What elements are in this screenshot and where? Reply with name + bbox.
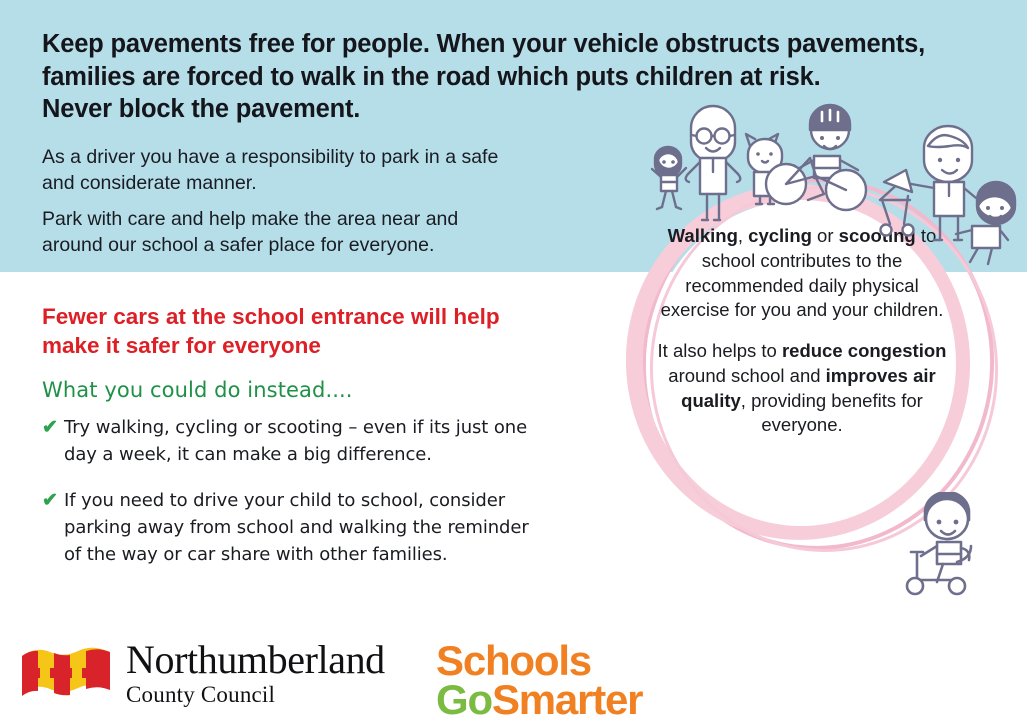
green-subheading: What you could do instead.... xyxy=(42,378,353,402)
northumberland-county-council-logo: Northumberland County Council xyxy=(20,640,385,706)
intro-p1-line-2: and considerate manner. xyxy=(42,170,642,196)
intro-paragraph-2: Park with care and help make the area ne… xyxy=(42,206,642,259)
bp1-t1: , xyxy=(738,225,748,246)
list-item-text: If you need to drive your child to schoo… xyxy=(64,487,529,569)
headline-line-1: Keep pavements free for people. When you… xyxy=(42,28,652,61)
bp1-t2: or xyxy=(812,225,839,246)
sgs-go: Go xyxy=(436,676,492,722)
bp2-t2: around school and xyxy=(668,365,825,386)
bullet-1-line-2: day a week, it can make a big difference… xyxy=(64,441,527,468)
list-item: ✔ If you need to drive your child to sch… xyxy=(42,487,602,569)
benefits-text: Walking, cycling or scooting to school c… xyxy=(650,224,954,454)
headline-line-2: families are forced to walk in the road … xyxy=(42,61,652,94)
check-icon: ✔ xyxy=(42,414,64,442)
intro-text: As a driver you have a responsibility to… xyxy=(42,144,642,267)
northumberland-flag-icon xyxy=(20,644,112,702)
intro-p2-line-2: around our school a safer place for ever… xyxy=(42,232,642,258)
ncc-subtitle: County Council xyxy=(126,683,385,706)
intro-p1-line-1: As a driver you have a responsibility to… xyxy=(42,144,642,170)
ncc-wordmark: Northumberland County Council xyxy=(126,640,385,706)
benefits-paragraph-2: It also helps to reduce congestion aroun… xyxy=(650,339,954,438)
bp2-t1: It also helps to xyxy=(658,340,782,361)
sgs-smarter: Smarter xyxy=(492,676,642,722)
headline-line-3: Never block the pavement. xyxy=(42,93,652,126)
bullet-2-line-1: If you need to drive your child to schoo… xyxy=(64,487,529,514)
suggestion-list: ✔ Try walking, cycling or scooting – eve… xyxy=(42,414,602,587)
list-item: ✔ Try walking, cycling or scooting – eve… xyxy=(42,414,602,469)
red-subheading-line-2: make it safer for everyone xyxy=(42,332,582,361)
bp1-b1: Walking xyxy=(668,225,738,246)
ncc-name: Northumberland xyxy=(126,640,385,680)
check-icon: ✔ xyxy=(42,487,64,515)
bp2-b1: reduce congestion xyxy=(782,340,946,361)
schools-go-smarter-logo: Schools GoSmarter xyxy=(436,642,642,719)
headline: Keep pavements free for people. When you… xyxy=(42,28,652,126)
red-subheading: Fewer cars at the school entrance will h… xyxy=(42,303,582,361)
bullet-2-line-3: of the way or car share with other famil… xyxy=(64,541,529,568)
bullet-2-line-2: parking away from school and walking the… xyxy=(64,514,529,541)
bp1-b3: scooting xyxy=(839,225,916,246)
bp2-t3: , providing benefits for everyone. xyxy=(741,390,923,436)
bp1-b2: cycling xyxy=(748,225,812,246)
intro-paragraph-1: As a driver you have a responsibility to… xyxy=(42,144,642,197)
benefits-paragraph-1: Walking, cycling or scooting to school c… xyxy=(650,224,954,323)
sgs-line-2: GoSmarter xyxy=(436,681,642,720)
benefits-circle: Walking, cycling or scooting to school c… xyxy=(620,176,1002,576)
poster-root: Keep pavements free for people. When you… xyxy=(0,0,1027,722)
list-item-text: Try walking, cycling or scooting – even … xyxy=(64,414,527,469)
bullet-1-line-1: Try walking, cycling or scooting – even … xyxy=(64,414,527,441)
red-subheading-line-1: Fewer cars at the school entrance will h… xyxy=(42,303,582,332)
intro-p2-line-1: Park with care and help make the area ne… xyxy=(42,206,642,232)
